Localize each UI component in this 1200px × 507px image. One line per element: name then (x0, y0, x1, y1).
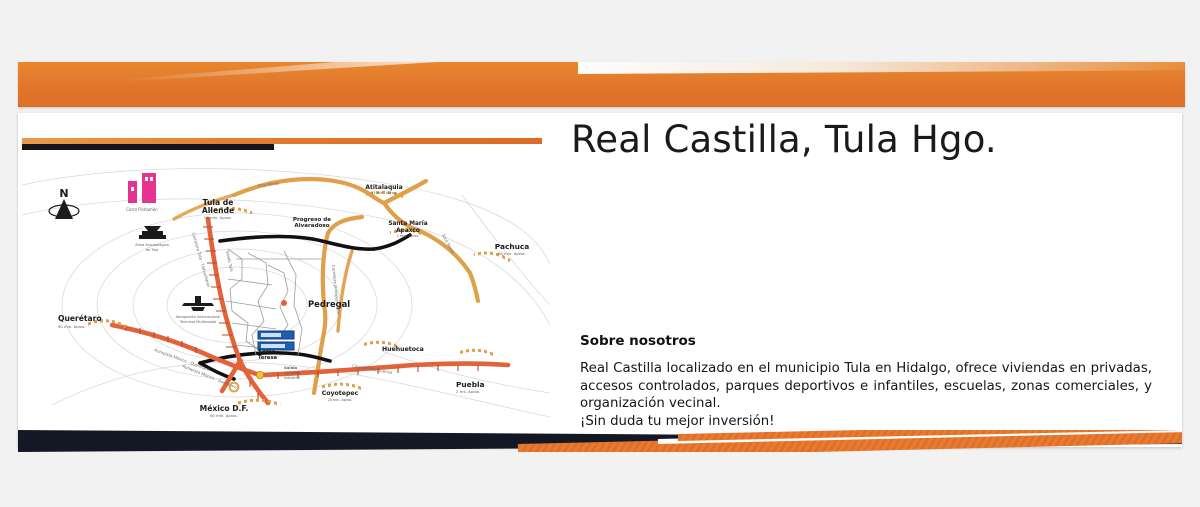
about-paragraph-closing: ¡Sin duda tu mejor inversión! (580, 413, 1152, 431)
svg-text:de Tula: de Tula (146, 248, 159, 252)
svg-text:20 min. Aprox.: 20 min. Aprox. (204, 215, 232, 220)
svg-text:60 min. Aprox.: 60 min. Aprox. (498, 251, 526, 256)
svg-text:Arco Norte: Arco Norte (258, 181, 280, 188)
svg-text:Terminal Multimodal: Terminal Multimodal (179, 320, 216, 324)
svg-text:Querétaro: Querétaro (58, 314, 102, 323)
svg-text:N: N (59, 187, 68, 200)
svg-text:México D.F.: México D.F. (200, 404, 249, 413)
svg-text:Pedregal: Pedregal (308, 299, 350, 309)
accent-bar-dark (22, 144, 274, 150)
header-banner (18, 62, 1185, 107)
svg-text:60 min. Aprox.: 60 min. Aprox. (210, 413, 238, 418)
location-map: N Cerro Pichamón Zona Arqueológica de Tu… (22, 155, 550, 425)
svg-text:Santa María: Santa María (388, 220, 427, 227)
svg-text:Salida Tula: Salida Tula (225, 250, 234, 273)
svg-text:13 min. Aprox.: 13 min. Aprox. (371, 191, 397, 195)
svg-text:Carretera Tula - Tlahuelilpan: Carretera Tula - Tlahuelilpan (191, 232, 212, 288)
svg-text:Pachuca: Pachuca (495, 242, 529, 251)
banner-highlight-line (578, 62, 1185, 74)
svg-text:Zona Arqueológica: Zona Arqueológica (135, 243, 169, 247)
building-marker-icon: Cerro Pichamón (126, 173, 158, 212)
svg-text:Aeropuerto Internacional: Aeropuerto Internacional (176, 315, 221, 319)
svg-text:2 min. Aprox.: 2 min. Aprox. (397, 234, 420, 238)
about-paragraph-text: Real Castilla localizado en el municipio… (580, 361, 1152, 411)
airplane-icon: Aeropuerto Internacional Terminal Multim… (176, 296, 221, 324)
svg-text:Huehuetoca: Huehuetoca (382, 346, 424, 353)
slide: Real Castilla, Tula Hgo. Sobre nosotros … (0, 0, 1200, 507)
pyramid-icon: Zona Arqueológica de Tula (135, 226, 169, 252)
svg-text:Teresa: Teresa (258, 355, 278, 361)
about-paragraph: Real Castilla localizado en el municipio… (580, 360, 1152, 430)
svg-text:Atitalaquia: Atitalaquia (365, 184, 402, 191)
page-title: Real Castilla, Tula Hgo. (571, 118, 1171, 161)
about-heading: Sobre nosotros (580, 333, 696, 349)
svg-text:Salida: Salida (284, 365, 298, 370)
svg-text:Complejo: Complejo (284, 371, 300, 375)
footer-decoration (18, 430, 1182, 452)
compass-rose: N (49, 187, 79, 219)
svg-text:Cerro Pichamón: Cerro Pichamón (126, 207, 158, 212)
svg-text:20 min. Aprox.: 20 min. Aprox. (328, 398, 353, 402)
svg-text:90 min. Aprox.: 90 min. Aprox. (58, 324, 86, 329)
svg-text:2 hrs. Aprox.: 2 hrs. Aprox. (456, 389, 480, 394)
svg-text:Alvaradoso: Alvaradoso (294, 223, 329, 229)
map-road-labels: Arco Norte Carretera Tula - Tlahuelilpan… (154, 181, 456, 390)
svg-text:Allende: Allende (202, 206, 234, 215)
svg-text:Industrial: Industrial (284, 376, 300, 380)
map-city-labels: Tula de Allende 20 min. Aprox. Atitalaqu… (58, 184, 529, 418)
svg-text:Coyotepec: Coyotepec (322, 390, 359, 397)
svg-text:Puebla: Puebla (456, 380, 485, 389)
